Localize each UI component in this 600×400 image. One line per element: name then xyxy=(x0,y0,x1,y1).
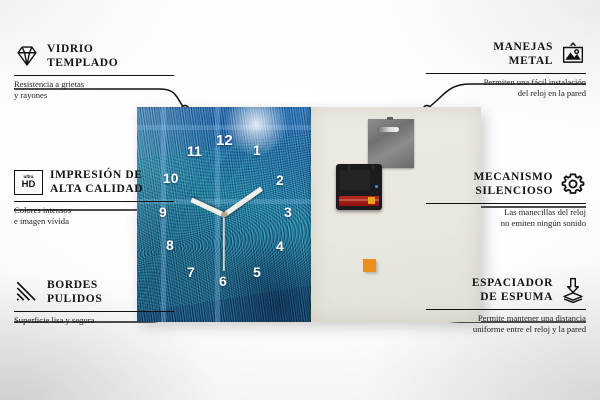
clock-center-cap xyxy=(222,212,227,217)
polished-edge-icon xyxy=(14,279,40,305)
feature-divider xyxy=(426,73,586,74)
clock-numeral: 1 xyxy=(253,143,261,157)
feature-hd-print: ultraHD IMPRESIÓN DE ALTA CALIDAD Colore… xyxy=(14,168,174,228)
feature-desc-line1: Las manecillas del reloj xyxy=(426,207,586,218)
ultra-hd-icon: ultraHD xyxy=(14,170,43,195)
feature-title-line1: ESPACIADOR xyxy=(472,276,553,290)
clock-numeral: 3 xyxy=(284,205,292,219)
feature-title-line2: TEMPLADO xyxy=(47,56,118,70)
feature-title-line1: VIDRIO xyxy=(47,42,118,56)
feature-desc-line2: no emiten ningún sonido xyxy=(426,218,586,229)
feature-title-line2: DE ESPUMA xyxy=(472,290,553,304)
gear-icon xyxy=(560,171,586,197)
feature-desc-line2: e imagen vívida xyxy=(14,216,174,227)
feature-title-line2: ALTA CALIDAD xyxy=(50,182,143,196)
feature-divider xyxy=(14,75,174,76)
quartz-movement xyxy=(336,164,382,210)
metal-hanger-plate xyxy=(368,119,414,168)
feature-divider xyxy=(426,309,586,310)
feature-metal-hangers: MANEJAS METAL Permiten una fácil instala… xyxy=(426,40,586,100)
picture-frame-icon xyxy=(560,41,586,67)
feature-title-line1: IMPRESIÓN DE xyxy=(50,168,143,182)
feature-title-line2: PULIDOS xyxy=(47,292,102,306)
clock-numeral: 4 xyxy=(276,239,284,253)
feature-title-line1: MANEJAS xyxy=(493,40,553,54)
clock-numeral: 12 xyxy=(216,133,233,148)
clock-numeral: 2 xyxy=(276,173,284,187)
feature-title-line1: BORDES xyxy=(47,278,102,292)
clock-numeral: 5 xyxy=(253,265,261,279)
feature-divider xyxy=(14,201,174,202)
clock-numeral: 8 xyxy=(166,238,174,252)
diamond-icon xyxy=(14,43,40,69)
feature-desc-line2: del reloj en la pared xyxy=(426,88,586,99)
feature-tempered-glass: VIDRIO TEMPLADO Resistencia a grietas y … xyxy=(14,42,174,102)
feature-silent-mechanism: MECANISMO SILENCIOSO Las manecillas del … xyxy=(426,170,586,230)
feature-divider xyxy=(14,311,174,312)
clock-second-hand xyxy=(223,215,225,271)
feature-desc-line1: Permiten una fácil instalación xyxy=(426,77,586,88)
arrow-down-stack-icon xyxy=(560,277,586,303)
foam-spacer-pad xyxy=(363,259,376,272)
feature-desc-line2: uniforme entre el reloj y la pared xyxy=(426,324,586,335)
feature-title-line1: MECANISMO xyxy=(473,170,553,184)
infographic-canvas: 12 1 2 3 4 5 6 7 8 9 10 11 xyxy=(0,0,600,400)
feature-polished-edges: BORDES PULIDOS Superficie lisa y segura xyxy=(14,278,174,326)
feature-desc-line1: Colores intensos xyxy=(14,205,174,216)
clock-numeral: 7 xyxy=(187,265,195,279)
feature-divider xyxy=(426,203,586,204)
clock-numeral: 11 xyxy=(187,144,202,158)
feature-desc-line1: Superficie lisa y segura xyxy=(14,315,174,326)
clock-numeral: 6 xyxy=(219,274,227,288)
feature-desc-line2: y rayones xyxy=(14,90,174,101)
feature-foam-spacer: ESPACIADOR DE ESPUMA Permite mantener un… xyxy=(426,276,586,336)
feature-title-line2: SILENCIOSO xyxy=(473,184,553,198)
feature-desc-line1: Resistencia a grietas xyxy=(14,79,174,90)
feature-desc-line1: Permite mantener una distancia xyxy=(426,313,586,324)
feature-title-line2: METAL xyxy=(493,54,553,68)
